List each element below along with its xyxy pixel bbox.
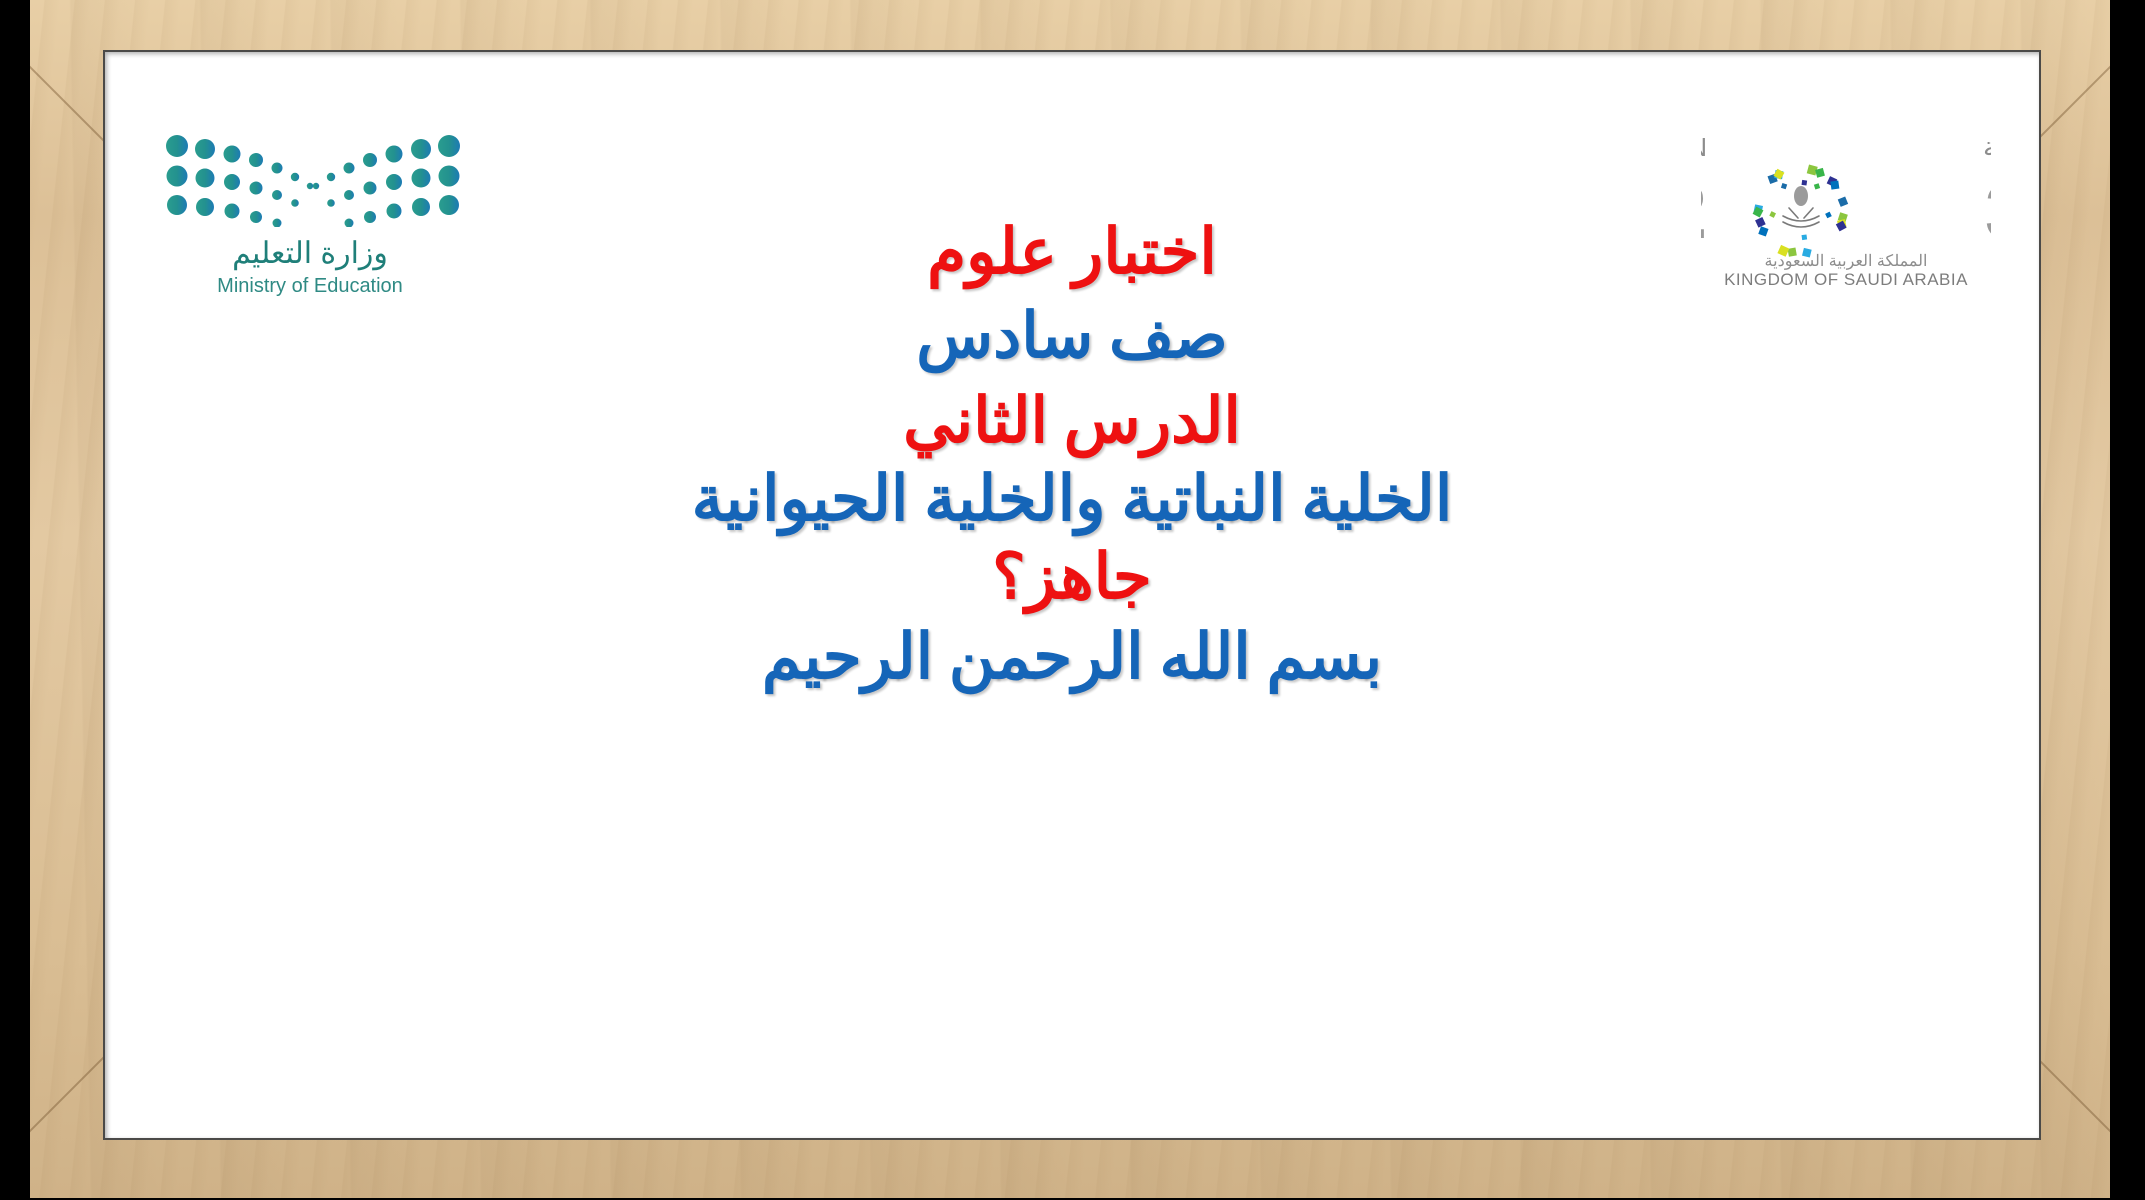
slide-stage: وزارة التعليم Ministry of Education VISI…	[0, 0, 2145, 1200]
title-line-basmala: بسم الله الرحمن الرحيم	[105, 625, 2039, 689]
slide-canvas: وزارة التعليم Ministry of Education VISI…	[103, 50, 2041, 1140]
vision-arabic-label: رؤيــة	[1983, 132, 1991, 163]
slide-title-block: اختبار علوم صف سادس الدرس الثاني الخلية …	[105, 220, 2039, 690]
title-line-subject: اختبار علوم	[105, 220, 2039, 284]
title-line-ready-prompt: جاهز؟	[105, 545, 2039, 609]
vision-english-label: VISION	[1701, 132, 1709, 162]
title-line-grade: صف سادس	[105, 304, 2039, 368]
title-line-lesson: الدرس الثاني	[105, 389, 2039, 453]
ministry-dots-icon	[163, 132, 463, 227]
wooden-picture-frame: وزارة التعليم Ministry of Education VISI…	[30, 0, 2110, 1198]
title-line-lesson-topic: الخلية النباتية والخلية الحيوانية	[105, 467, 2039, 531]
